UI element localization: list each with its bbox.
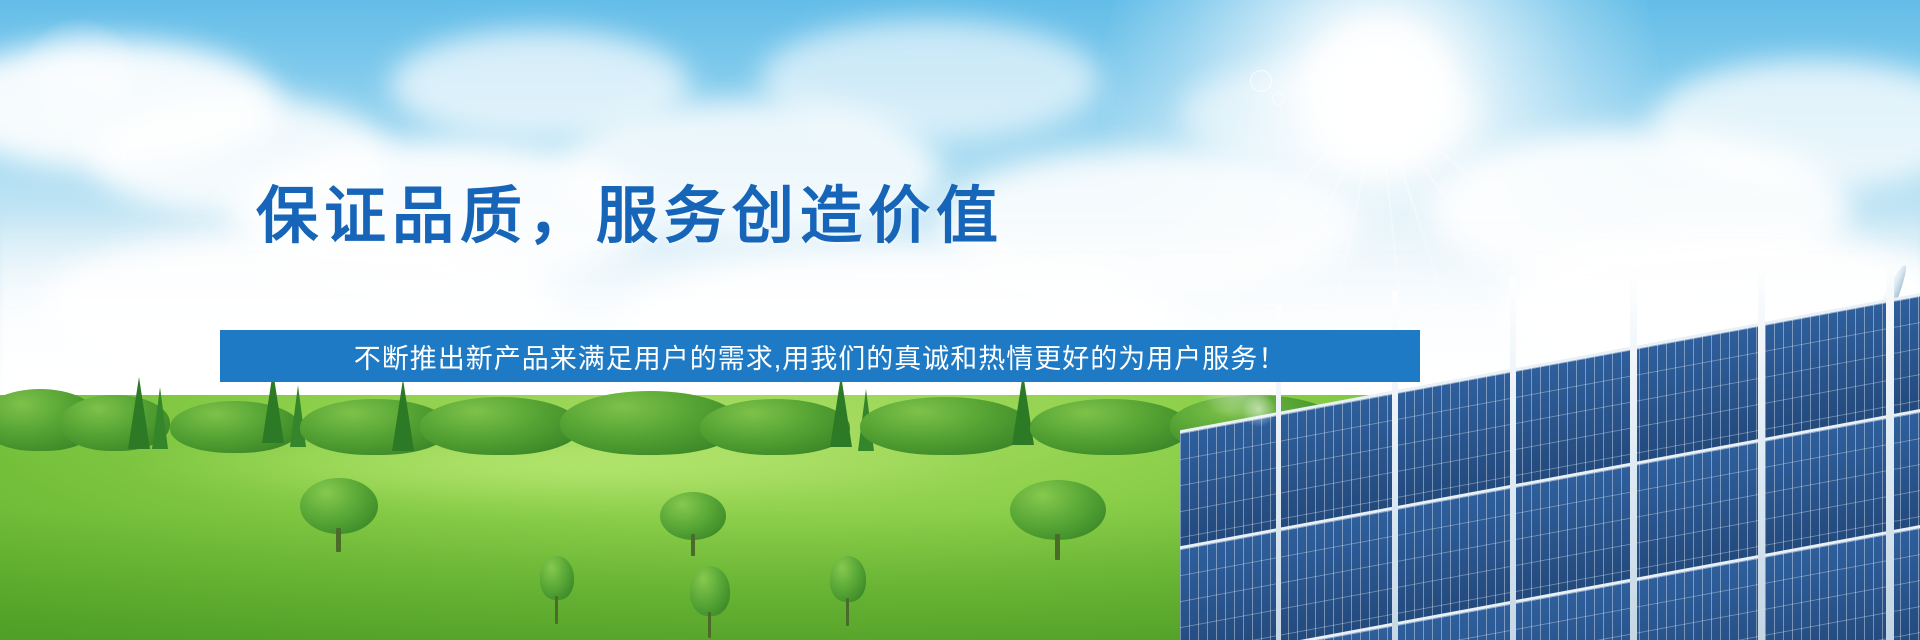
foreground-tree: [1010, 480, 1106, 560]
tree-trunk: [708, 612, 711, 638]
tree-trunk: [336, 528, 341, 552]
promo-banner: 保证品质，服务创造价值 不断推出新产品来满足用户的需求,用我们的真诚和热情更好的…: [0, 0, 1920, 640]
conifer-tree: [128, 377, 150, 449]
solar-frame-bar: [1630, 265, 1637, 640]
sapling: [690, 566, 730, 638]
foreground-tree: [660, 492, 726, 556]
subtitle-text: 不断推出新产品来满足用户的需求,用我们的真诚和热情更好的为用户服务！: [354, 337, 1287, 376]
tree-crown: [690, 566, 730, 616]
solar-frame-bar: [1886, 265, 1894, 640]
conifer-tree: [392, 379, 414, 451]
tree-crown: [300, 478, 378, 534]
page-title: 保证品质，服务创造价值: [0, 182, 1260, 251]
conifer-tree: [152, 387, 168, 449]
tree-crown: [1010, 480, 1106, 540]
tree-trunk: [846, 598, 849, 626]
sapling: [830, 556, 866, 626]
bush: [860, 397, 1030, 455]
solar-panel-array: [1180, 265, 1920, 640]
tree-trunk: [555, 596, 558, 624]
tree-crown: [540, 556, 574, 600]
tree-trunk: [1055, 534, 1060, 560]
sapling: [540, 556, 574, 624]
solar-frame-bar: [1510, 276, 1516, 640]
subtitle-bar: 不断推出新产品来满足用户的需求,用我们的真诚和热情更好的为用户服务！: [220, 330, 1420, 382]
bush: [1030, 399, 1190, 455]
foreground-tree: [300, 478, 378, 552]
conifer-tree: [830, 375, 852, 447]
tree-trunk: [691, 534, 695, 556]
solar-frame-bar: [1758, 265, 1765, 640]
tree-crown: [830, 556, 866, 602]
bush: [700, 399, 850, 455]
tree-crown: [660, 492, 726, 540]
bush: [420, 397, 580, 455]
